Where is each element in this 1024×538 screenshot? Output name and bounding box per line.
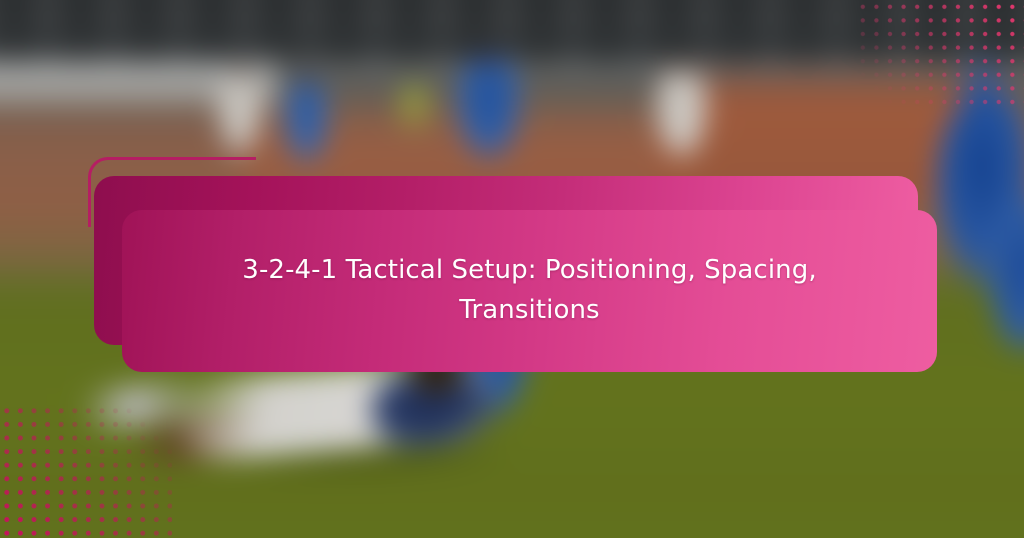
banner-stage: 3-2-4-1 Tactical Setup: Positioning, Spa… — [0, 0, 1024, 538]
dot-pattern-top-right-icon — [856, 0, 1024, 112]
page-title: 3-2-4-1 Tactical Setup: Positioning, Spa… — [188, 251, 871, 330]
dot-pattern-bottom-left-icon — [0, 404, 172, 538]
banner-title-container: 3-2-4-1 Tactical Setup: Positioning, Spa… — [122, 210, 937, 372]
